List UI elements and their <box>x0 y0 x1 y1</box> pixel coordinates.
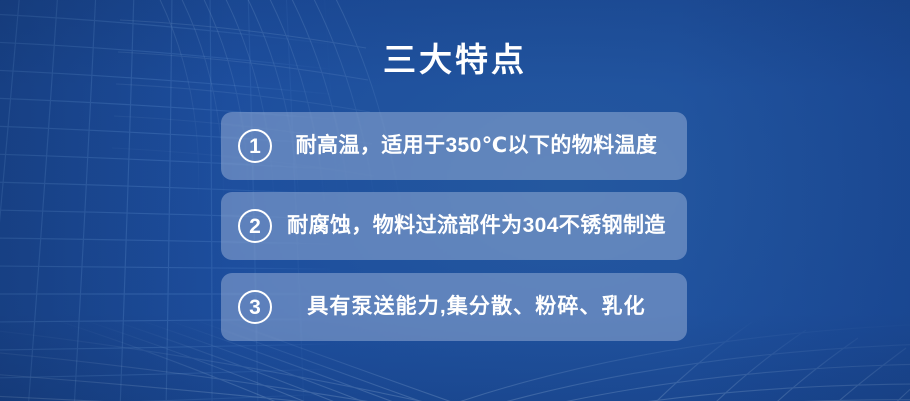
feature-text-3: 具有泵送能力,集分散、粉碎、乳化 <box>272 294 687 319</box>
feature-number-badge-3: 3 <box>238 290 272 324</box>
page-title: 三大特点 <box>0 42 910 78</box>
feature-text-1: 耐高温，适用于350℃以下的物料温度 <box>272 133 687 158</box>
feature-number-badge-1: 1 <box>238 129 272 163</box>
feature-item-3[interactable]: 3 具有泵送能力,集分散、粉碎、乳化 <box>221 273 687 341</box>
feature-number-badge-2: 2 <box>238 209 272 243</box>
feature-slide: 三大特点 1 耐高温，适用于350℃以下的物料温度 2 耐腐蚀，物料过流部件为3… <box>0 0 910 401</box>
feature-item-2[interactable]: 2 耐腐蚀，物料过流部件为304不锈钢制造 <box>221 192 687 260</box>
feature-text-2: 耐腐蚀，物料过流部件为304不锈钢制造 <box>272 213 687 238</box>
feature-item-1[interactable]: 1 耐高温，适用于350℃以下的物料温度 <box>221 112 687 180</box>
